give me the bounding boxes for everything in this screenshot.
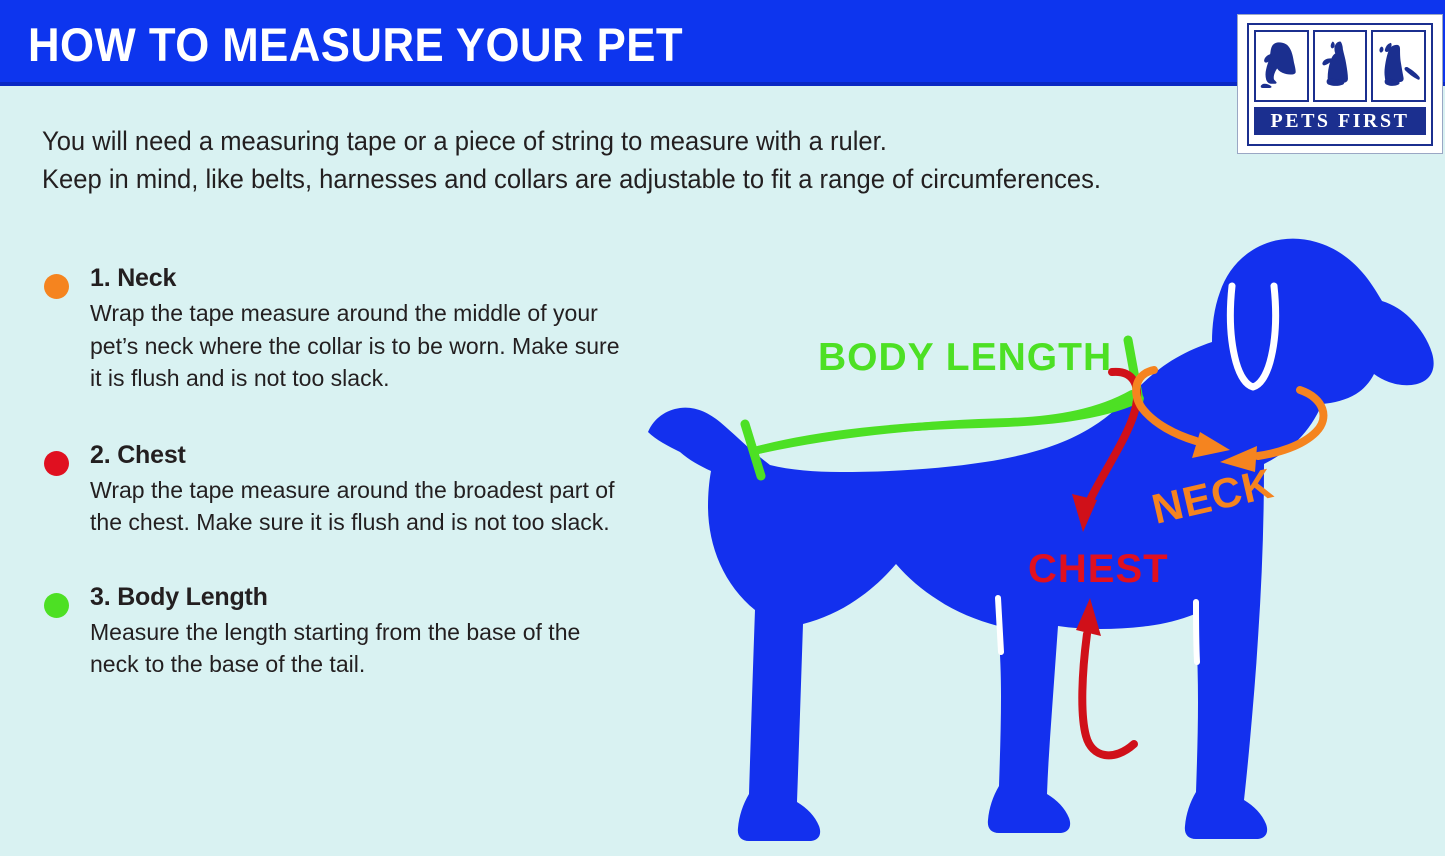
dog-measurement-diagram: BODY LENGTH CHEST NECK [640,222,1445,856]
begging-dog-icon [1313,30,1368,102]
bullet-body-length [44,593,69,618]
logo-dog-row [1254,30,1426,102]
header-underline [0,82,1445,86]
body-length-label: BODY LENGTH [818,336,1112,379]
front-leg-separation [1196,602,1197,662]
infographic-page: HOW TO MEASURE YOUR PET [0,0,1445,856]
step-chest-title: 2. Chest [90,439,642,472]
howling-dog-icon [1371,30,1426,102]
logo-name: PETS FIRST [1271,110,1410,133]
step-neck-title: 1. Neck [90,262,642,295]
step-neck: 1. Neck Wrap the tape measure around the… [42,262,642,395]
rear-leg-separation [998,598,1001,652]
intro-line-1: You will need a measuring tape or a piec… [42,122,1239,160]
step-chest-body: Wrap the tape measure around the broades… [90,474,631,539]
bullet-chest [44,451,69,476]
step-neck-body: Wrap the tape measure around the middle … [90,297,631,395]
step-body-length-body: Measure the length starting from the bas… [90,616,631,681]
measurement-steps: 1. Neck Wrap the tape measure around the… [42,262,642,681]
chest-label: CHEST [1028,547,1169,591]
page-title: HOW TO MEASURE YOUR PET [28,17,683,72]
bullet-neck [44,274,69,299]
intro-text: You will need a measuring tape or a piec… [42,122,1282,198]
intro-line-2: Keep in mind, like belts, harnesses and … [42,160,1239,198]
dog-silhouette [648,239,1434,841]
sitting-dog-icon [1254,30,1309,102]
step-chest: 2. Chest Wrap the tape measure around th… [42,439,642,539]
step-body-length: 3. Body Length Measure the length starti… [42,581,642,681]
step-body-length-title: 3. Body Length [90,581,642,614]
